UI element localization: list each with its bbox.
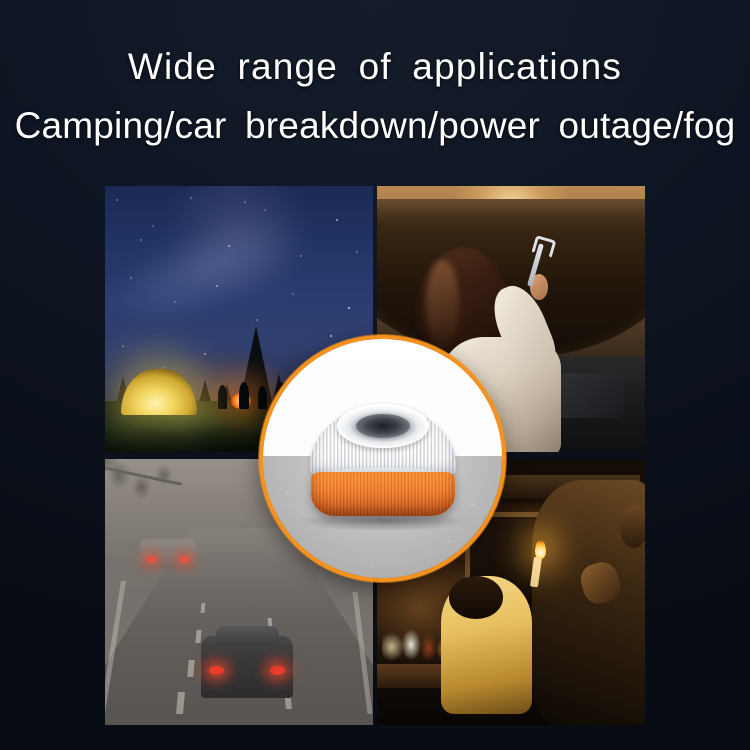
product-feature-banner: Wide range of applications Camping/car b…	[0, 0, 750, 750]
emergency-beacon-light	[306, 406, 460, 520]
reflector-lens	[337, 404, 429, 448]
tree-branch	[105, 459, 234, 523]
standing-person	[532, 480, 645, 725]
distant-car	[140, 539, 196, 569]
seated-person-head	[449, 576, 503, 619]
standing-person-arm	[577, 558, 624, 607]
headline-block: Wide range of applications Camping/car b…	[0, 0, 750, 144]
headline-line-2: Camping/car breakdown/power outage/fog	[0, 107, 750, 144]
standing-person-head	[620, 505, 645, 548]
headline-line-1: Wide range of applications	[0, 48, 750, 85]
near-car	[201, 636, 293, 698]
orange-base	[311, 472, 455, 516]
product-highlight-circle	[259, 335, 506, 582]
